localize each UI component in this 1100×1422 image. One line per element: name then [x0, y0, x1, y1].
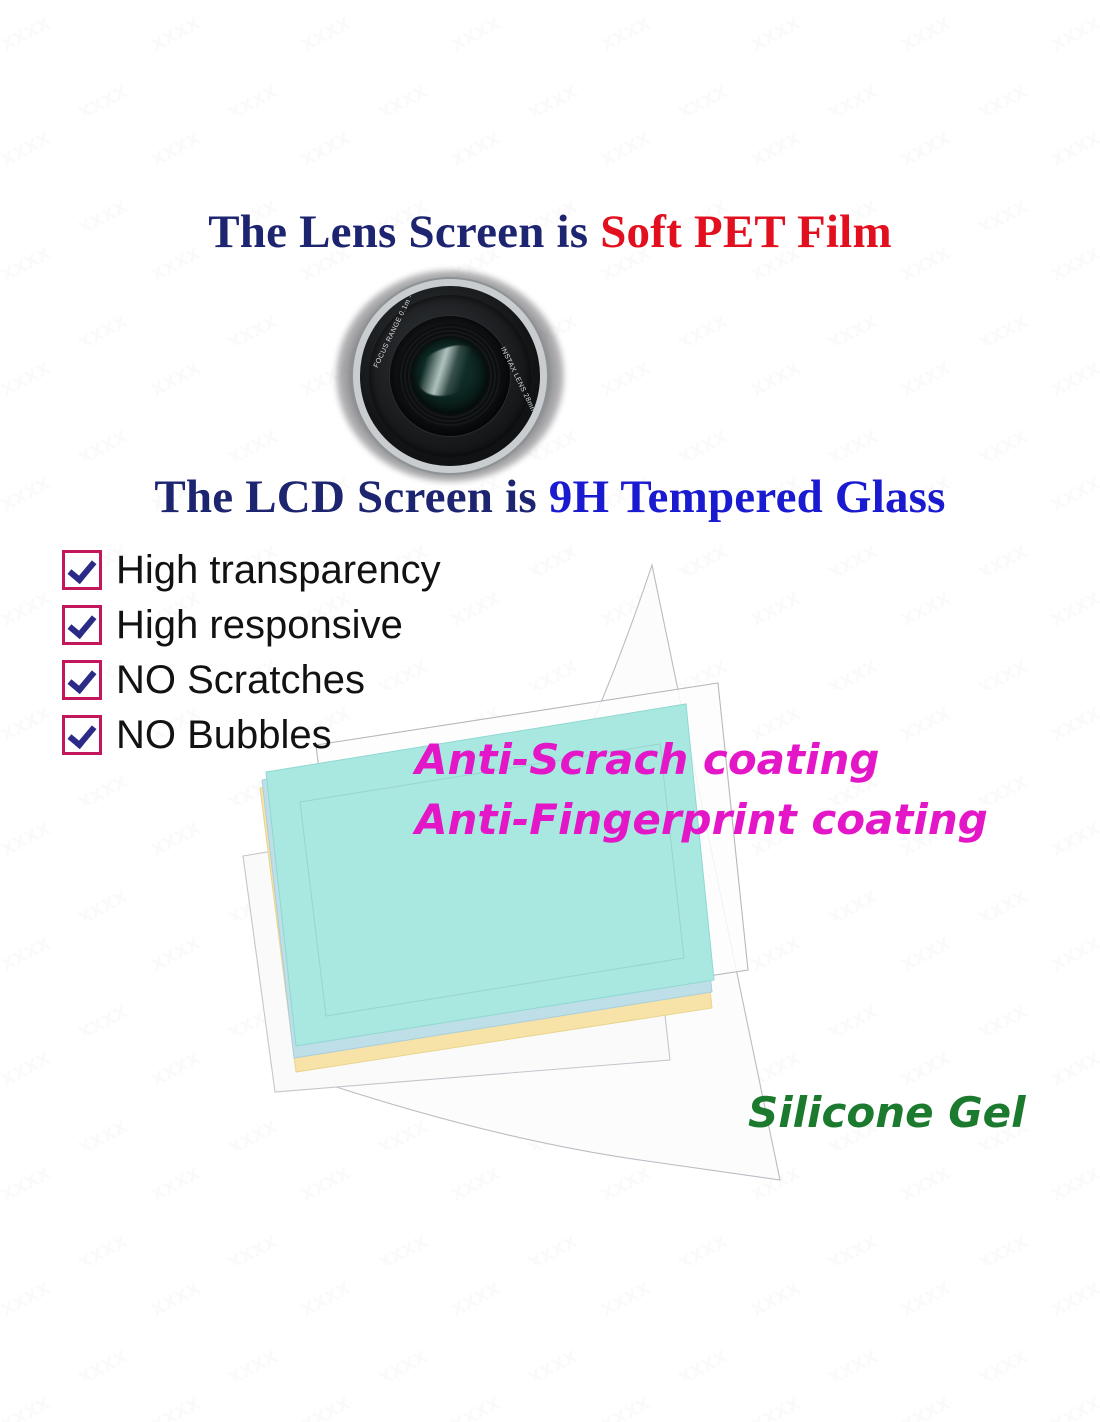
checklist-item: High transparency	[62, 542, 441, 597]
check-icon	[62, 660, 102, 700]
heading-lens-emphasis: Soft PET Film	[600, 206, 892, 258]
checklist-item: NO Bubbles	[62, 707, 441, 762]
checklist-item-label: NO Scratches	[116, 660, 365, 700]
checklist-item-label: High responsive	[116, 605, 403, 645]
infographic-canvas: The Lens Screen is Soft PET Film FOCUS R…	[0, 0, 1100, 1422]
heading-lcd-prefix: The LCD Screen is	[154, 471, 548, 523]
heading-lcd-emphasis: 9H Tempered Glass	[549, 471, 946, 523]
annotation-silicone-gel: Silicone Gel	[748, 1088, 1026, 1137]
annotation-anti-scratch: Anti-Scrach coating	[415, 735, 879, 784]
camera-lens-image: FOCUS RANGE 0.1m - ∞ INSTAX LENS 28mm F2…	[330, 268, 570, 483]
heading-lens-screen: The Lens Screen is Soft PET Film	[0, 205, 1100, 259]
lens-barrel: FOCUS RANGE 0.1m - ∞ INSTAX LENS 28mm F2…	[360, 286, 540, 466]
check-icon	[62, 605, 102, 645]
check-icon	[62, 550, 102, 590]
heading-lens-prefix: The Lens Screen is	[208, 206, 600, 258]
check-icon	[62, 715, 102, 755]
feature-checklist: High transparency High responsive NO Scr…	[62, 542, 441, 762]
checklist-item-label: High transparency	[116, 550, 441, 590]
checklist-item: High responsive	[62, 597, 441, 652]
heading-lcd-screen: The LCD Screen is 9H Tempered Glass	[0, 470, 1100, 524]
checklist-item-label: NO Bubbles	[116, 715, 332, 755]
annotation-anti-fingerprint: Anti-Fingerprint coating	[415, 795, 988, 844]
checklist-item: NO Scratches	[62, 652, 441, 707]
